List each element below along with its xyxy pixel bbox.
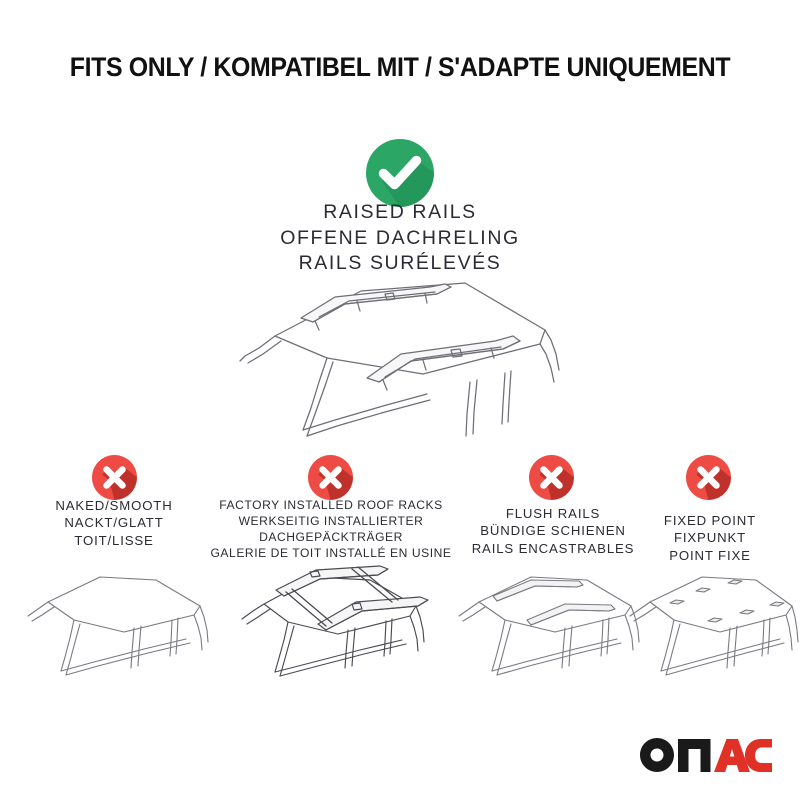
flush-rails-label-block: FLUSH RAILS BÜNDIGE SCHIENEN RAILS ENCAS… [452,505,654,557]
cross-circle-icon-naked-smooth [92,455,137,500]
cross-circle-icon-factory-rack [308,455,353,500]
car-roof-naked-illustration [14,558,214,683]
page-title: FITS ONLY / KOMPATIBEL MIT / S'ADAPTE UN… [24,52,776,83]
factory-rack-label-line-1: FACTORY INSTALLED ROOF RACKS [200,498,462,514]
cross-circle-icon-flush-rails [529,455,574,500]
compatible-label-line-1: RAISED RAILS [0,200,800,226]
factory-rack-label-line-2: WERKSEITIG INSTALLIERTER [200,514,462,530]
compatible-label-block: RAISED RAILS OFFENE DACHRELING RAILS SUR… [0,200,800,277]
cross-circle-icon-fixed-point [686,455,731,500]
car-roof-factory-rack-illustration [222,552,434,684]
car-roof-raised-rails-illustration [215,278,585,463]
fixed-point-label-line-1: FIXED POINT [636,512,784,529]
naked-smooth-label-block: NAKED/SMOOTH NACKT/GLATT TOIT/LISSE [14,497,214,549]
check-circle-icon [366,139,434,207]
factory-rack-label-line-3: DACHGEPÄCKTRÄGER [200,530,462,546]
flush-rails-label-line-1: FLUSH RAILS [452,505,654,522]
car-roof-flush-rails-illustration [445,558,645,683]
flush-rails-label-line-2: BÜNDIGE SCHIENEN [452,522,654,539]
naked-smooth-label-line-1: NAKED/SMOOTH [14,497,214,514]
compatibility-infographic: FITS ONLY / KOMPATIBEL MIT / S'ADAPTE UN… [0,0,800,800]
car-roof-fixed-point-illustration [622,558,800,683]
compatible-label-line-2: OFFENE DACHRELING [0,226,800,252]
compatible-label-line-3: RAILS SURÉLEVÉS [0,251,800,277]
flush-rails-label-line-3: RAILS ENCASTRABLES [452,540,654,557]
fixed-point-label-line-2: FIXPUNKT [636,529,784,546]
omac-logo [640,738,772,772]
naked-smooth-label-line-3: TOIT/LISSE [14,532,214,549]
fixed-point-label-block: FIXED POINT FIXPUNKT POINT FIXE [636,512,784,564]
naked-smooth-label-line-2: NACKT/GLATT [14,514,214,531]
